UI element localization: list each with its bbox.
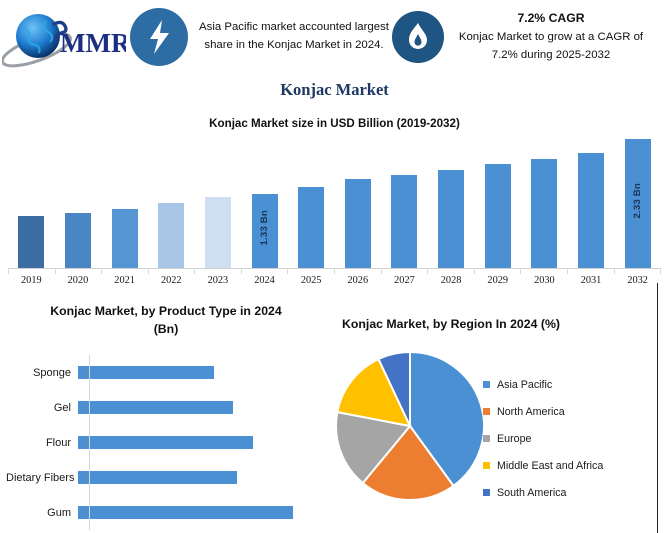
x-axis-ticks (8, 268, 661, 275)
product-type-row: Dietary Fibers (6, 460, 326, 495)
bar-2028 (438, 170, 464, 268)
bar-2019 (18, 216, 44, 268)
bar-column: 2.33 Bn (614, 132, 661, 268)
x-axis-label-2032: 2032 (614, 275, 661, 286)
x-tick (194, 268, 241, 274)
x-tick (101, 268, 148, 274)
bar-series: 1.33 Bn2.33 Bn (8, 132, 661, 268)
x-axis-labels: 2019202020212022202320242025202620272028… (8, 275, 661, 286)
bar-2022 (158, 203, 184, 268)
header-callout-asia-pacific: Asia Pacific market accounted largest sh… (196, 19, 392, 54)
bar-column (334, 132, 381, 268)
x-tick (8, 268, 55, 274)
bar-column (428, 132, 475, 268)
bar-2029 (485, 164, 511, 268)
mmr-logo: MMR (0, 0, 128, 74)
product-type-bar-gum (78, 506, 293, 519)
x-axis-label-2026: 2026 (334, 275, 381, 286)
product-type-title-line1: Konjac Market, by Product Type in 2024 (6, 303, 326, 321)
bar-value-label: 1.33 Bn (259, 210, 270, 246)
bar-column: 1.33 Bn (241, 132, 288, 268)
legend-swatch (483, 381, 490, 388)
x-axis-label-2024: 2024 (241, 275, 288, 286)
legend-label: Middle East and Africa (497, 460, 603, 472)
cagr-description: Konjac Market to grow at a CAGR of 7.2% … (459, 31, 643, 61)
x-axis-label-2022: 2022 (148, 275, 195, 286)
product-type-label-gel: Gel (6, 402, 78, 414)
region-pie-chart (335, 350, 485, 502)
bar-column (8, 132, 55, 268)
x-axis-label-2021: 2021 (101, 275, 148, 286)
product-type-track (78, 355, 326, 390)
product-type-label-flour: Flour (6, 437, 78, 449)
x-tick (334, 268, 381, 274)
region-legend: Asia PacificNorth AmericaEuropeMiddle Ea… (483, 371, 663, 506)
product-type-track (78, 425, 326, 460)
bar-2031 (578, 153, 604, 268)
bar-column (288, 132, 335, 268)
bar-value-label: 2.33 Bn (632, 183, 643, 219)
x-axis-label-2020: 2020 (55, 275, 102, 286)
x-tick (55, 268, 102, 274)
x-axis-label-2028: 2028 (428, 275, 475, 286)
market-size-bar-chart: 1.33 Bn2.33 Bn (8, 132, 661, 277)
bar-2020 (65, 213, 91, 269)
product-type-track (78, 390, 326, 425)
legend-swatch (483, 489, 490, 496)
legend-item-europe: Europe (483, 425, 663, 452)
product-type-bar-chart: SpongeGelFlourDietary FibersGum (6, 355, 326, 530)
bar-column (474, 132, 521, 268)
legend-swatch (483, 435, 490, 442)
product-type-chart-title: Konjac Market, by Product Type in 2024 (… (6, 303, 326, 339)
x-tick (614, 268, 662, 274)
product-type-rows: SpongeGelFlourDietary FibersGum (6, 355, 326, 530)
bar-2026 (345, 179, 371, 268)
bar-2021 (112, 209, 138, 268)
product-type-row: Sponge (6, 355, 326, 390)
product-type-label-gum: Gum (6, 507, 78, 519)
legend-swatch (483, 408, 490, 415)
x-axis-label-2019: 2019 (8, 275, 55, 286)
bar-column (101, 132, 148, 268)
x-tick (567, 268, 614, 274)
x-tick (241, 268, 288, 274)
bar-column (148, 132, 195, 268)
header-bar: MMR Asia Pacific market accounted larges… (0, 0, 669, 74)
product-type-bar-sponge (78, 366, 214, 379)
x-axis-label-2029: 2029 (474, 275, 521, 286)
product-type-row: Flour (6, 425, 326, 460)
legend-label: South America (497, 487, 567, 499)
right-border (657, 283, 658, 533)
product-type-track (78, 460, 326, 495)
legend-label: North America (497, 406, 565, 418)
chart-subtitle: Konjac Market size in USD Billion (2019-… (0, 117, 669, 130)
legend-item-middle-east-and-africa: Middle East and Africa (483, 452, 663, 479)
legend-item-north-america: North America (483, 398, 663, 425)
bar-column (521, 132, 568, 268)
legend-label: Asia Pacific (497, 379, 552, 391)
region-chart-title: Konjac Market, by Region In 2024 (%) (336, 317, 646, 331)
product-type-label-sponge: Sponge (6, 367, 78, 379)
product-type-bar-flour (78, 436, 253, 449)
legend-label: Europe (497, 433, 531, 445)
product-type-row: Gel (6, 390, 326, 425)
product-type-row: Gum (6, 495, 326, 530)
bar-2024: 1.33 Bn (252, 194, 278, 268)
legend-item-asia-pacific: Asia Pacific (483, 371, 663, 398)
infographic-page: MMR Asia Pacific market accounted larges… (0, 0, 669, 533)
product-type-track (78, 495, 326, 530)
x-axis-label-2025: 2025 (288, 275, 335, 286)
bar-column (568, 132, 615, 268)
bar-column (195, 132, 242, 268)
product-type-y-axis (89, 355, 90, 530)
flame-icon (392, 11, 444, 63)
x-tick (148, 268, 195, 274)
lightning-bolt-icon (130, 8, 188, 66)
bar-column (55, 132, 102, 268)
legend-item-south-america: South America (483, 479, 663, 506)
x-axis-label-2023: 2023 (195, 275, 242, 286)
bar-column (381, 132, 428, 268)
header-callout-cagr: 7.2% CAGR Konjac Market to grow at a CAG… (451, 9, 651, 64)
x-tick (520, 268, 567, 274)
product-type-bar-gel (78, 401, 233, 414)
page-title: Konjac Market (0, 80, 669, 100)
product-type-label-dietary-fibers: Dietary Fibers (6, 472, 78, 484)
product-type-bar-dietary-fibers (78, 471, 237, 484)
x-axis-label-2031: 2031 (568, 275, 615, 286)
bar-2025 (298, 187, 324, 268)
bar-2027 (391, 175, 417, 268)
bar-2032: 2.33 Bn (625, 139, 651, 268)
x-tick (287, 268, 334, 274)
x-tick (381, 268, 428, 274)
globe-icon: MMR (2, 6, 126, 68)
bar-2023 (205, 197, 231, 268)
x-axis-label-2030: 2030 (521, 275, 568, 286)
bar-2030 (531, 159, 557, 268)
logo-text: MMR (60, 28, 126, 58)
product-type-title-line2: (Bn) (6, 321, 326, 339)
x-tick (427, 268, 474, 274)
x-tick (474, 268, 521, 274)
legend-swatch (483, 462, 490, 469)
x-axis-label-2027: 2027 (381, 275, 428, 286)
cagr-value: 7.2% CAGR (451, 9, 651, 28)
